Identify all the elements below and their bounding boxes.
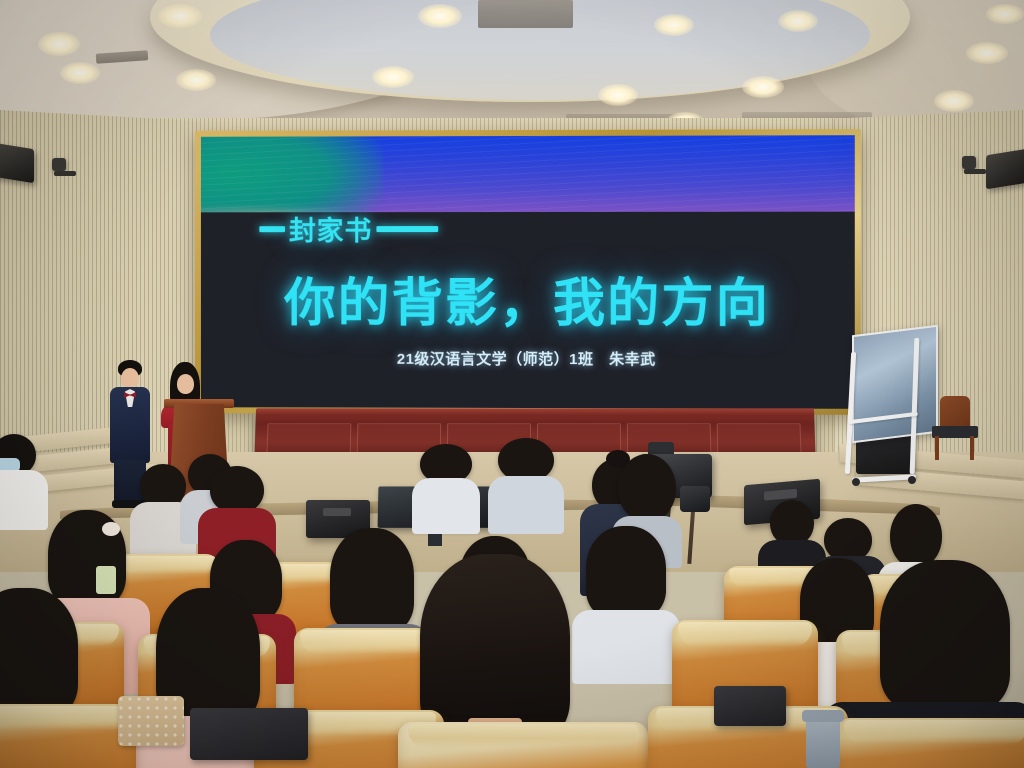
travel-cup xyxy=(806,716,840,768)
whiteboard-panel xyxy=(852,325,938,444)
attendee-head xyxy=(890,504,942,568)
downlight-10 xyxy=(778,10,818,32)
armchair-leg xyxy=(935,436,939,460)
male-host-head xyxy=(121,368,139,389)
seat-trim xyxy=(300,630,431,654)
female-host-head xyxy=(177,374,194,394)
downlight-9 xyxy=(742,76,784,98)
eyebrow-rule-before-icon xyxy=(259,226,285,232)
wooden-armchair xyxy=(930,396,978,460)
downlight-13 xyxy=(966,42,1008,64)
audience xyxy=(0,470,1024,768)
downlight-5 xyxy=(372,66,414,88)
seat-trim xyxy=(116,556,215,574)
attendee-head xyxy=(0,588,78,718)
laptop-bag-secondary xyxy=(714,686,786,726)
slide-eyebrow-text: 封家书 xyxy=(289,210,372,249)
wainscot-cap xyxy=(256,408,814,416)
seat-trim xyxy=(678,622,812,647)
downlight-3 xyxy=(158,4,202,28)
ceiling-vent-1 xyxy=(478,0,573,28)
attendee-body xyxy=(412,478,480,534)
attendee-head xyxy=(210,466,264,514)
wall-speaker-right xyxy=(986,149,1024,190)
slide-title: 你的背影，我的方向 xyxy=(201,261,855,336)
downlight-12 xyxy=(934,90,974,112)
auditorium-photo: 封家书 你的背影，我的方向 21级汉语言文学（师范）1班 朱幸武 xyxy=(0,0,1024,768)
attendee-head xyxy=(420,554,570,742)
wall-camera-left xyxy=(52,158,66,171)
attendee-head xyxy=(330,528,414,632)
seat-trim xyxy=(408,724,638,748)
slide-byline: 21级汉语言文学（师范）1班 朱幸武 xyxy=(201,348,855,370)
auditorium-seat[interactable] xyxy=(836,718,1024,768)
wall-camera-right xyxy=(962,156,976,169)
attendee-body xyxy=(572,610,680,684)
seat-trim xyxy=(0,706,129,730)
attendee-head xyxy=(880,560,1010,710)
bottle xyxy=(96,566,116,594)
attendee-body xyxy=(488,476,564,534)
led-presentation-screen: 封家书 你的背影，我的方向 21级汉语言文学（师范）1班 朱幸武 xyxy=(195,129,861,415)
seat-trim xyxy=(844,720,1024,744)
slide-eyebrow: 封家书 xyxy=(259,210,438,249)
eyebrow-rule-after-icon xyxy=(376,226,438,232)
attendee-head xyxy=(618,454,676,522)
attendee-body xyxy=(0,470,48,530)
downlight-2 xyxy=(60,62,100,84)
attendee-head xyxy=(586,526,666,618)
downlight-7 xyxy=(598,84,638,106)
wall-speaker-left xyxy=(0,143,34,183)
screen-surface: 封家书 你的背影，我的方向 21级汉语言文学（师范）1班 朱幸武 xyxy=(201,135,855,409)
tan-handbag xyxy=(118,696,184,746)
downlight-8 xyxy=(654,14,694,36)
auditorium-seat[interactable] xyxy=(398,722,648,768)
armchair-leg xyxy=(970,436,974,460)
laptop-bag xyxy=(190,708,308,760)
auditorium-seat[interactable] xyxy=(0,704,136,768)
attendee-hair-tie xyxy=(102,522,120,536)
downlight-4 xyxy=(176,69,216,91)
downlight-1 xyxy=(38,32,80,56)
armchair-back xyxy=(940,396,970,430)
downlight-14 xyxy=(986,4,1024,24)
travel-cup-lid xyxy=(802,710,844,722)
downlight-6 xyxy=(418,4,462,28)
